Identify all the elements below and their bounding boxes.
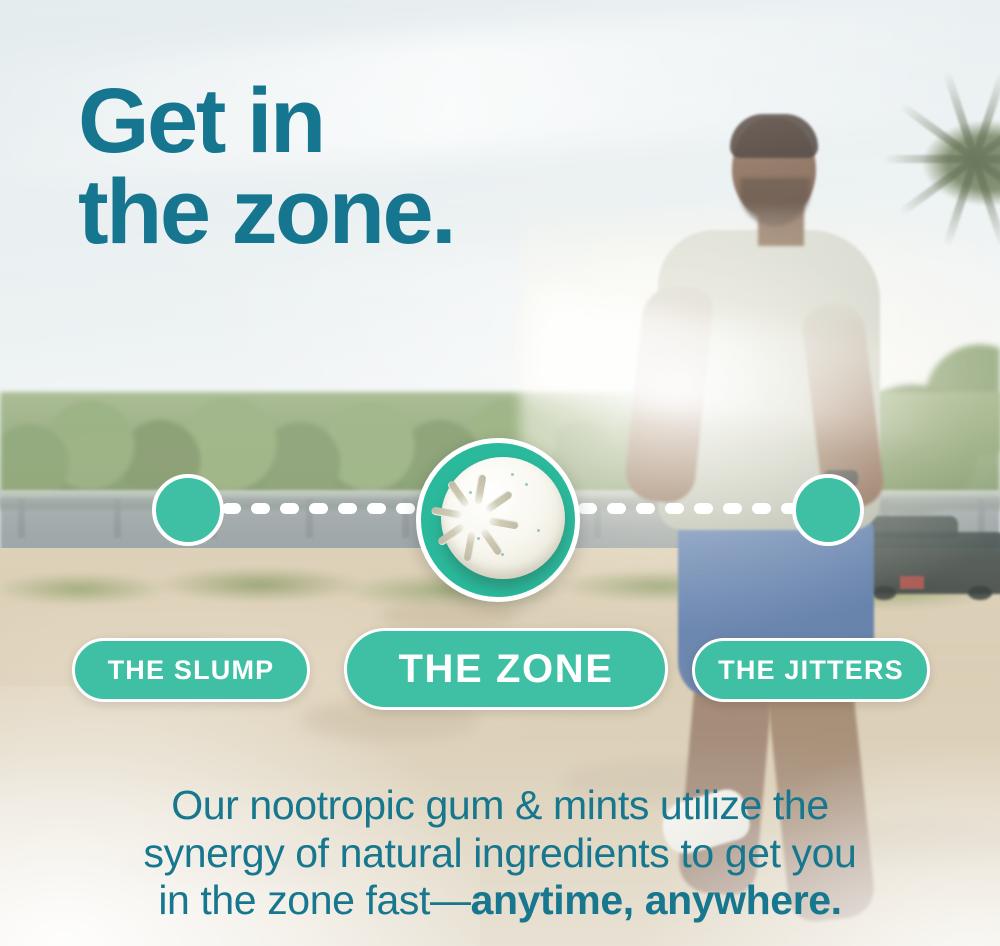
connector-dash <box>723 503 742 514</box>
mint-speck <box>511 473 514 476</box>
timeline-node-zone[interactable] <box>416 438 580 602</box>
connector-dash <box>636 503 655 514</box>
connector-dash <box>578 503 597 514</box>
mint-emboss-ray <box>431 506 462 519</box>
mint-emboss-rays <box>441 457 565 579</box>
connector-dash <box>694 503 713 514</box>
connector-dash <box>309 503 328 514</box>
stage-label-jitters[interactable]: THE JITTERS <box>692 638 930 702</box>
product-hero-banner: Get in the zone. THE SLUMP THE ZONE <box>0 0 1000 946</box>
mint-speck <box>537 529 540 532</box>
caption-line-3-normal: in the zone fast— <box>158 877 470 923</box>
mint-tablet-icon <box>441 457 565 579</box>
mint-emboss-ray <box>437 523 466 547</box>
caption: Our nootropic gum & mints utilize the sy… <box>60 782 940 925</box>
headline-line-1: Get in <box>78 70 324 172</box>
mint-emboss-ray <box>446 480 470 509</box>
connector-dash <box>338 503 357 514</box>
mint-emboss-ray <box>473 474 486 505</box>
connector-dash <box>222 503 241 514</box>
connector-dashes-right <box>578 503 796 514</box>
connector-dash <box>280 503 299 514</box>
connector-dash <box>665 503 684 514</box>
timeline-node-jitters[interactable] <box>792 474 864 546</box>
connector-dashes-left <box>222 503 422 514</box>
mint-emboss-ray <box>488 516 519 529</box>
connector-dash <box>396 503 415 514</box>
page-title: Get in the zone. <box>78 76 698 258</box>
mint-speck <box>469 491 472 494</box>
mint-emboss-ray <box>484 489 513 513</box>
caption-line-2: synergy of natural ingredients to get yo… <box>60 830 940 878</box>
caption-line-3-bold: anytime, anywhere. <box>471 877 842 923</box>
mint-emboss-ray <box>480 527 504 556</box>
connector-dash <box>367 503 386 514</box>
mint-speck <box>525 483 528 486</box>
mint-emboss-ray <box>463 531 476 562</box>
mint-speck <box>501 553 504 556</box>
stage-label-slump[interactable]: THE SLUMP <box>72 638 310 702</box>
stage-label-zone[interactable]: THE ZONE <box>344 628 668 710</box>
stage-label-zone-text: THE ZONE <box>398 647 613 692</box>
caption-line-1: Our nootropic gum & mints utilize the <box>60 782 940 830</box>
headline-line-2: the zone. <box>78 167 698 258</box>
connector-dash <box>752 503 771 514</box>
stage-label-slump-text: THE SLUMP <box>108 655 275 686</box>
connector-dash <box>251 503 270 514</box>
caption-line-3: in the zone fast—anytime, anywhere. <box>60 877 940 925</box>
stage-label-jitters-text: THE JITTERS <box>718 655 904 686</box>
mint-speck <box>477 537 480 540</box>
connector-dash <box>607 503 626 514</box>
timeline-node-slump[interactable] <box>152 474 224 546</box>
